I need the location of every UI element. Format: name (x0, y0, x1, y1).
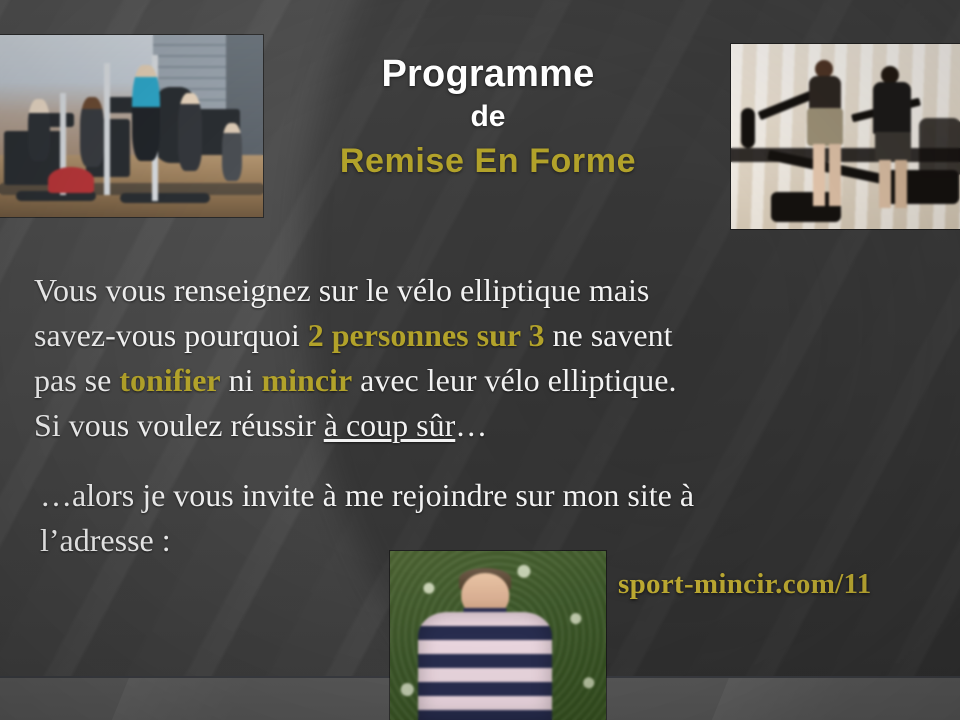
intro-text-6: avec leur vélo elliptique. (352, 362, 676, 398)
gym-right-photo (731, 44, 960, 229)
intro-text-5: ni (221, 362, 262, 398)
highlight-mincir: mincir (262, 362, 353, 398)
intro-line-2: savez-vous pourquoi 2 personnes sur 3 ne… (34, 313, 676, 358)
underlined-a-coup-sur: à coup sûr (324, 407, 456, 443)
presenter-portrait-photo (390, 551, 606, 720)
intro-text-4: pas se (34, 362, 119, 398)
highlight-tonifier: tonifier (119, 362, 220, 398)
site-url-text[interactable]: sport-mincir.com/11 (618, 568, 872, 601)
intro-text-7: Si vous voulez réussir (34, 407, 324, 443)
highlight-2-personnes-sur-3: 2 personnes sur 3 (308, 317, 545, 353)
intro-line-3: pas se tonifier ni mincir avec leur vélo… (34, 358, 676, 403)
title-line-de: de (278, 96, 698, 138)
title-block: Programme de Remise En Forme (278, 52, 698, 184)
intro-line-4: Si vous voulez réussir à coup sûr… (34, 403, 676, 448)
intro-paragraph: Vous vous renseignez sur le vélo ellipti… (34, 268, 676, 448)
presentation-slide: Programme de Remise En Forme Vous vous r… (0, 0, 960, 720)
intro-line-1: Vous vous renseignez sur le vélo ellipti… (34, 268, 676, 313)
title-line-remise-en-forme: Remise En Forme (278, 138, 698, 184)
intro-text-2: savez-vous pourquoi (34, 317, 308, 353)
gym-left-photo (0, 35, 263, 217)
intro-text-8: … (455, 407, 487, 443)
call-to-action-paragraph: …alors je vous invite à me rejoindre sur… (40, 473, 694, 563)
intro-text-3: ne savent (545, 317, 673, 353)
cta-line-1: …alors je vous invite à me rejoindre sur… (40, 473, 694, 518)
title-line-programme: Programme (278, 52, 698, 96)
intro-text-1: Vous vous renseignez sur le vélo ellipti… (34, 272, 649, 308)
